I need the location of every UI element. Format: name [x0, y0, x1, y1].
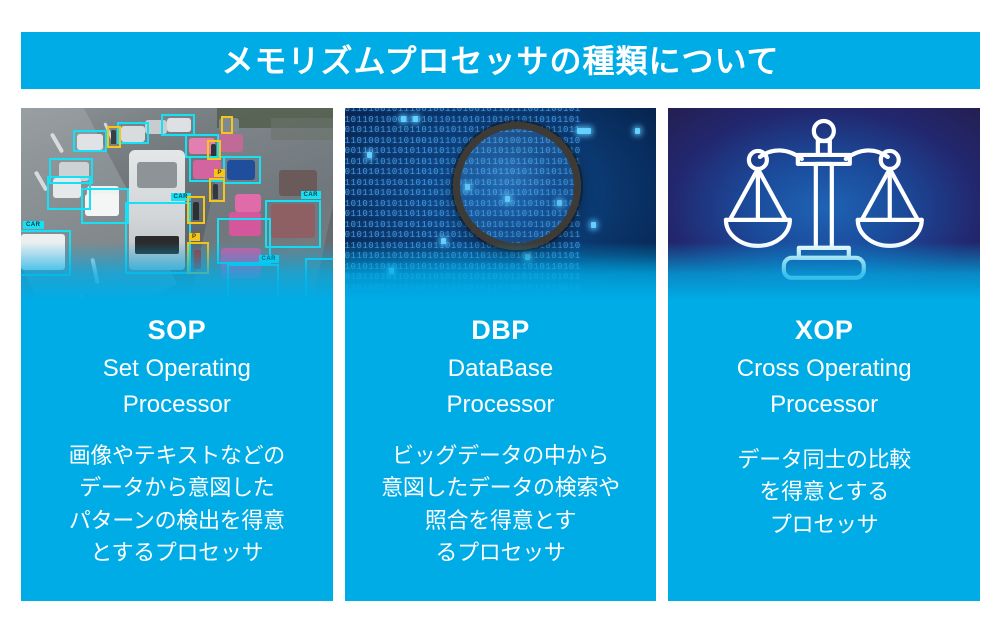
card-full-name: DataBase Processor	[446, 351, 554, 422]
processor-card-xop[interactable]: XOP Cross Operating Processor データ同士の比較 を…	[668, 108, 980, 601]
card-description: ビッグデータの中から 意図したデータの検索や 照合を得意とす るプロセッサ	[381, 440, 620, 569]
description-line: 意図したデータの検索や	[381, 475, 620, 500]
card-description: 画像やテキストなどの データから意図した パターンの検出を得意 とするプロセッサ	[69, 440, 285, 569]
detection-box-person	[221, 116, 233, 134]
detection-box-vehicle: CAR	[265, 200, 321, 248]
detection-box-vehicle: CAR	[21, 230, 71, 276]
balance-scale-icon	[668, 108, 980, 300]
card-full-name-line1: Set Operating	[103, 355, 251, 382]
card-full-name-line2: Processor	[123, 391, 231, 418]
card-full-name-line1: DataBase	[448, 355, 553, 382]
description-line: 画像やテキストなどの	[69, 443, 285, 468]
description-line: 照合を得意とす	[425, 508, 576, 533]
card-abbreviation: XOP	[795, 317, 854, 344]
bottom-glow	[345, 256, 657, 300]
detection-box-person: P	[187, 242, 209, 274]
card-full-name-line1: Cross Operating	[737, 355, 912, 382]
card-abbreviation: DBP	[471, 317, 530, 344]
card-abbreviation: SOP	[148, 317, 207, 344]
description-line: ビッグデータの中から	[392, 443, 609, 468]
processor-card-dbp[interactable]: 0110100101110010011010010110111001100101…	[345, 108, 657, 601]
card-media-dbp: 0110100101110010011010010110111001100101…	[345, 108, 657, 300]
balance-scale-icon-image	[668, 108, 980, 300]
card-media-sop: CAR CAR CAR CAR P	[21, 108, 333, 300]
description-line: パターンの検出を得意	[69, 508, 285, 533]
processor-card-list: CAR CAR CAR CAR P	[21, 108, 980, 601]
card-body-xop: XOP Cross Operating Processor データ同士の比較 を…	[668, 300, 980, 601]
detection-label: CAR	[23, 221, 44, 229]
page-title: メモリズムプロセッサの種類について	[221, 45, 779, 77]
detection-box-vehicle	[117, 122, 149, 144]
detection-label-person: P	[189, 233, 200, 241]
detection-box-vehicle	[81, 188, 129, 224]
card-body-sop: SOP Set Operating Processor 画像やテキストなどの デ…	[21, 300, 333, 601]
page-title-bar: メモリズムプロセッサの種類について	[21, 32, 980, 89]
card-full-name-line2: Processor	[446, 391, 554, 418]
detection-box-vehicle	[161, 114, 195, 136]
detection-box-vehicle	[305, 258, 333, 300]
description-line: を得意とする	[759, 479, 889, 504]
detection-box-vehicle	[223, 156, 261, 184]
detection-box-vehicle: CAR	[227, 264, 279, 300]
description-line: データ同士の比較	[737, 447, 911, 472]
card-description: データ同士の比較 を得意とする プロセッサ	[737, 444, 911, 541]
detection-label-person: P	[214, 169, 225, 177]
binary-data-magnifier-image: 0110100101110010011010010110111001100101…	[345, 108, 657, 300]
processor-card-sop[interactable]: CAR CAR CAR CAR P	[21, 108, 333, 601]
description-line: プロセッサ	[770, 512, 879, 537]
detection-box-person	[107, 126, 121, 148]
card-body-dbp: DBP DataBase Processor ビッグデータの中から 意図したデー…	[345, 300, 657, 601]
detection-box-vehicle	[73, 130, 107, 152]
detection-box-person	[207, 140, 221, 160]
detection-box-person: P	[209, 178, 225, 202]
description-line: るプロセッサ	[435, 540, 565, 565]
description-line: とするプロセッサ	[90, 540, 263, 565]
card-full-name-line2: Processor	[770, 391, 878, 418]
detection-label: CAR	[259, 255, 280, 263]
traffic-object-detection-image: CAR CAR CAR CAR P	[21, 108, 333, 300]
card-full-name: Set Operating Processor	[103, 351, 251, 422]
magnifier-icon	[453, 122, 581, 250]
detection-box-person	[187, 196, 205, 224]
detection-label: CAR	[301, 191, 322, 199]
card-full-name: Cross Operating Processor	[737, 351, 912, 422]
card-media-xop	[668, 108, 980, 300]
description-line: データから意図した	[79, 475, 274, 500]
detection-box-vehicle: CAR	[125, 202, 191, 274]
